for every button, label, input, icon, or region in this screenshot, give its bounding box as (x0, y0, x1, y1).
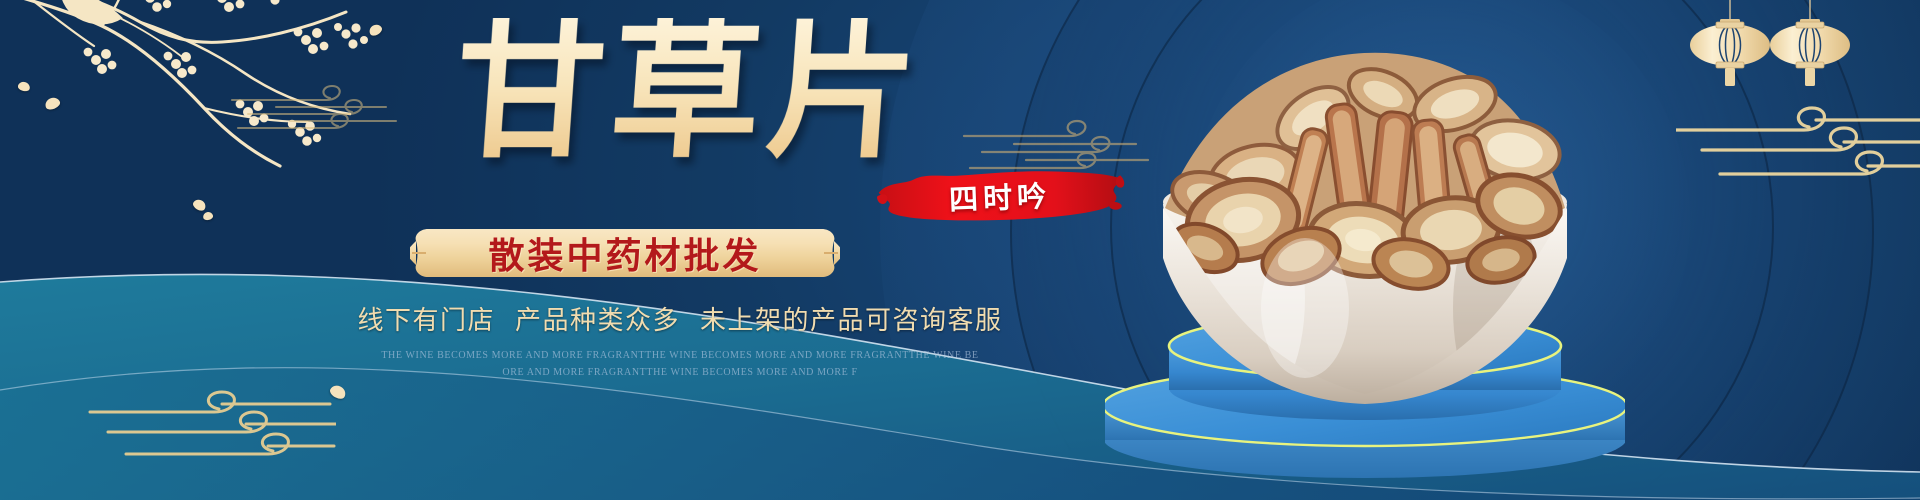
licorice-slices-bowl (1105, 8, 1625, 488)
ribbon-label: 四时吟 (874, 163, 1126, 229)
english-caption-line-1: THE WINE BECOMES MORE AND MORE FRAGRANTT… (370, 348, 990, 365)
plaque-label: 散装中药材批发 (410, 223, 840, 283)
petal-icon (191, 197, 207, 212)
petal-icon (202, 211, 213, 221)
english-caption-line-2: ORE AND MORE FRAGRANTTHE WINE BECOMES MO… (370, 365, 990, 382)
ribbon-badge: 四时吟 (874, 163, 1126, 229)
subtitle-line: 线下有门店 产品种类众多 未上架的产品可咨询客服 (330, 300, 1030, 337)
subtitle-item-3: 未上架的产品可咨询客服 (700, 306, 1003, 335)
headline-block: 甘草片 四时吟 (330, 18, 1030, 168)
chinese-lantern-icon (1770, 0, 1850, 86)
promo-banner: 甘草片 四时吟 (0, 0, 1920, 500)
page-title: 甘草片 (325, 18, 1035, 168)
subtitle-item-2: 产品种类众多 (515, 306, 680, 335)
chinese-lantern-icon (1690, 0, 1770, 86)
lantern-group (1672, 0, 1912, 110)
plaque-badge: 散装中药材批发 (410, 223, 840, 283)
subtitle-item-1: 线下有门店 (357, 306, 495, 335)
english-caption: THE WINE BECOMES MORE AND MORE FRAGRANTT… (370, 348, 990, 381)
